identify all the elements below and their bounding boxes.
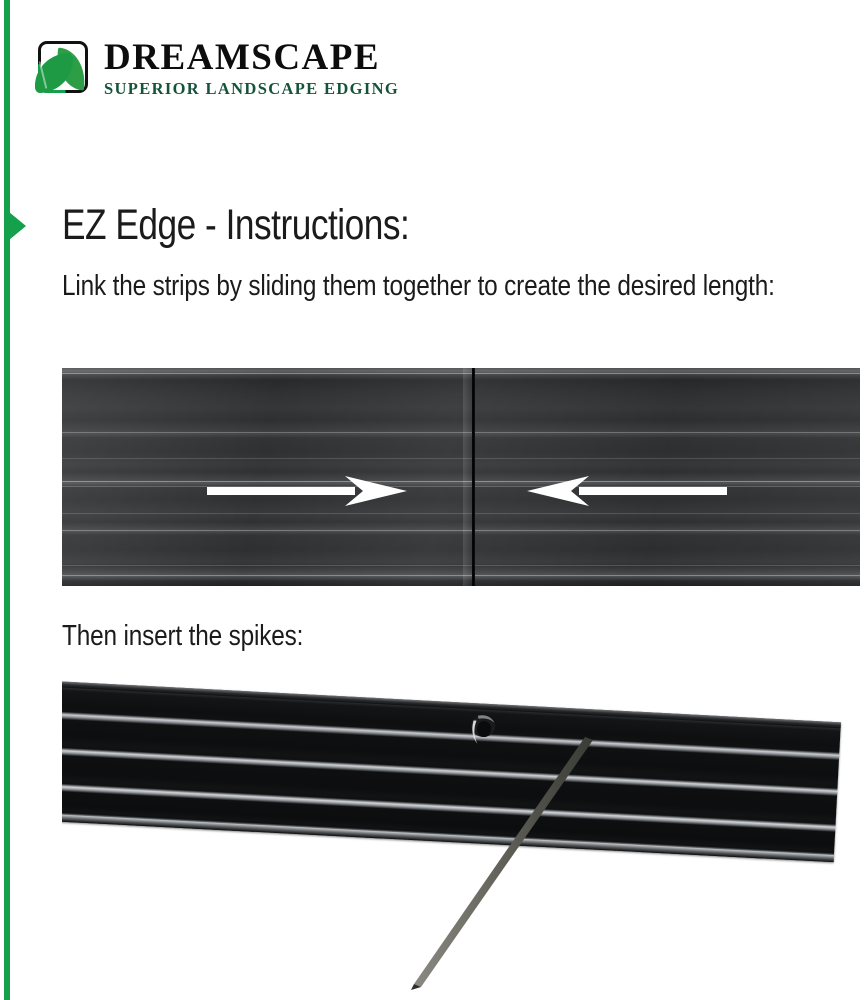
strip-rib-line xyxy=(62,432,860,433)
strip-rib-line xyxy=(62,575,860,576)
step-2-text: Then insert the spikes: xyxy=(62,618,303,656)
strip-rib-line xyxy=(62,481,860,482)
seam-highlight xyxy=(463,368,472,586)
step-1-text: Link the strips by sliding them together… xyxy=(62,266,801,307)
left-green-rail xyxy=(4,0,10,1000)
strip-rib-line xyxy=(62,530,860,531)
board-top-lip xyxy=(62,681,841,728)
spike-hole xyxy=(467,712,499,750)
spike-shaft xyxy=(403,737,593,992)
strip-rib-line xyxy=(62,513,860,514)
strip-seam xyxy=(472,368,475,586)
brand-name: DREAMSCAPE xyxy=(104,39,399,76)
strip-rib-line xyxy=(62,458,860,459)
strip-surface xyxy=(62,368,860,586)
brand-tagline: SUPERIOR LANDSCAPE EDGING xyxy=(104,81,399,98)
section-pointer-icon xyxy=(9,212,26,240)
strip-rib-line xyxy=(62,373,860,374)
arrow-right-icon xyxy=(207,474,407,508)
brand-logo: DREAMSCAPE SUPERIOR LANDSCAPE EDGING xyxy=(30,37,399,99)
strip-rib-line xyxy=(62,565,860,566)
strip-rib-line xyxy=(62,486,860,487)
arrow-left-icon xyxy=(527,474,727,508)
page-title: EZ Edge - Instructions: xyxy=(62,204,409,247)
linking-strips-photo xyxy=(62,368,860,586)
logo-wordmark: DREAMSCAPE SUPERIOR LANDSCAPE EDGING xyxy=(104,39,399,98)
leaf-icon xyxy=(30,37,92,99)
